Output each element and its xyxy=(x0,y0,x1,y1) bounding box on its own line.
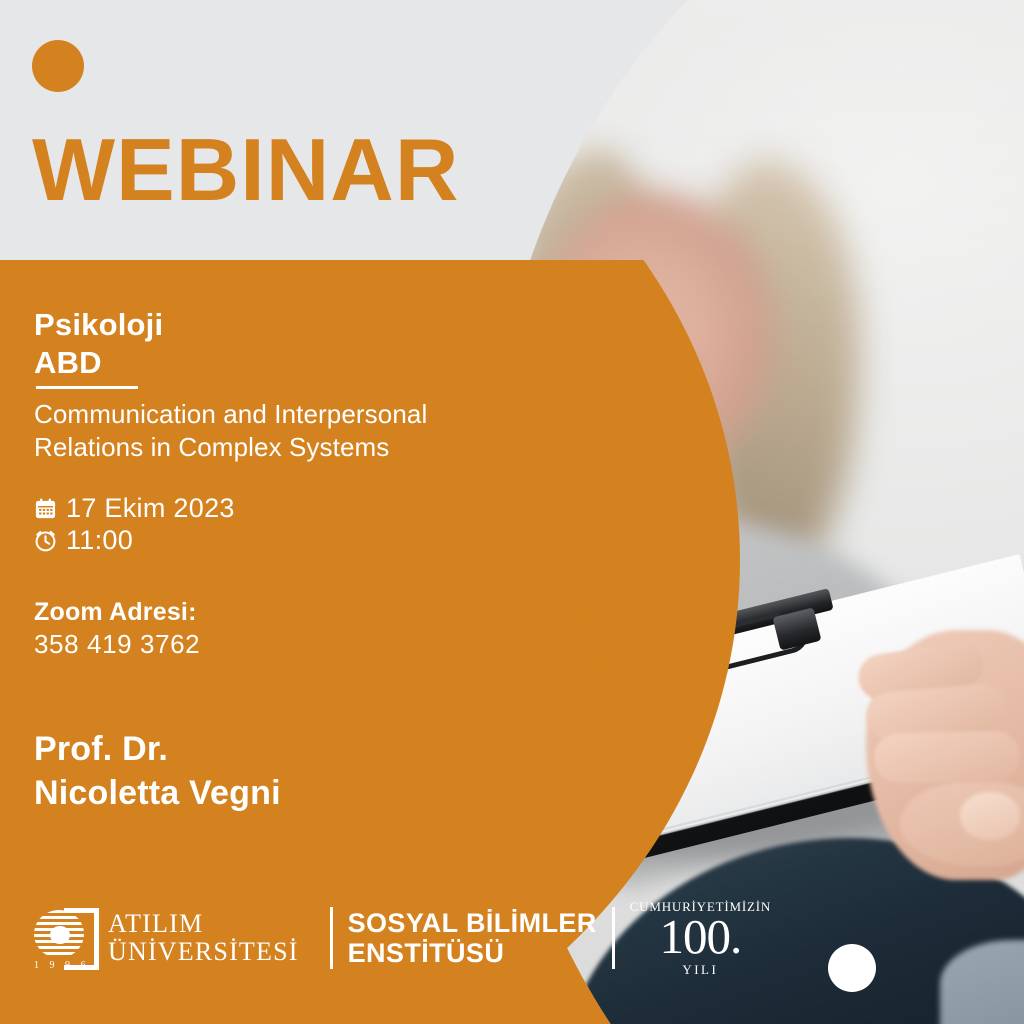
university-name: ATILIM ÜNİVERSİTESİ xyxy=(108,910,299,966)
university-line-1: ATILIM xyxy=(108,910,299,938)
atilim-logo-icon: 1 9 9 6 xyxy=(34,906,98,970)
zoom-block: Zoom Adresi: 358 419 3762 xyxy=(34,598,200,660)
department-line-1: Psikoloji xyxy=(34,306,163,344)
event-date: 17 Ekim 2023 xyxy=(66,493,235,524)
centenary-logo: CUMHURİYETİMİZİN 100. YILI xyxy=(630,900,771,976)
title-divider xyxy=(36,386,138,389)
institute-name: SOSYAL BİLİMLER ENSTİTÜSÜ xyxy=(348,908,597,968)
department-line-2: ABD xyxy=(34,344,163,382)
subtitle-line-2: Relations in Complex Systems xyxy=(34,431,554,464)
event-meta: 17 Ekim 2023 11:00 xyxy=(34,492,235,556)
webinar-poster: WEBINAR Psikoloji ABD Communication and … xyxy=(0,0,1024,1024)
subtitle-line-1: Communication and Interpersonal xyxy=(34,398,554,431)
calendar-icon xyxy=(34,497,57,520)
event-time-row: 11:00 xyxy=(34,524,235,556)
white-dot-icon xyxy=(828,944,876,992)
institute-line-1: SOSYAL BİLİMLER xyxy=(348,908,597,938)
footer-divider-2 xyxy=(612,907,615,969)
page-title: WEBINAR xyxy=(32,126,459,214)
zoom-meeting-id[interactable]: 358 419 3762 xyxy=(34,629,200,660)
speaker-title: Prof. Dr. xyxy=(34,728,281,772)
footer-divider-1 xyxy=(330,907,333,969)
footer-logos: 1 9 9 6 ATILIM ÜNİVERSİTESİ SOSYAL BİLİM… xyxy=(34,896,771,980)
clock-icon xyxy=(34,529,57,552)
event-time: 11:00 xyxy=(66,525,133,556)
talk-subtitle: Communication and Interpersonal Relation… xyxy=(34,398,554,465)
logo-founded-year: 1 9 9 6 xyxy=(34,960,98,971)
centenary-bottom-text: YILI xyxy=(630,963,771,976)
department-block: Psikoloji ABD xyxy=(34,306,163,382)
speaker-name: Prof. Dr. Nicoletta Vegni xyxy=(34,728,281,815)
orange-dot-icon xyxy=(32,40,84,92)
event-date-row: 17 Ekim 2023 xyxy=(34,492,235,524)
centenary-number: 100. xyxy=(630,914,771,961)
university-line-2: ÜNİVERSİTESİ xyxy=(108,938,299,966)
institute-line-2: ENSTİTÜSÜ xyxy=(348,938,597,968)
speaker-fullname: Nicoletta Vegni xyxy=(34,772,281,816)
zoom-label: Zoom Adresi: xyxy=(34,598,200,627)
